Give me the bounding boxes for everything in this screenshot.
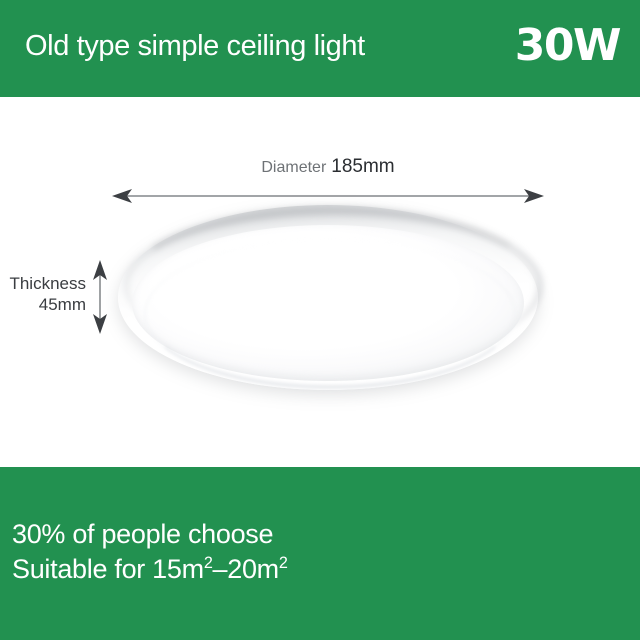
footer-line-2-middle: –20m (213, 554, 279, 584)
double-arrow-vertical-icon (90, 260, 110, 334)
diameter-label: Diameter185mm (112, 157, 544, 176)
header-banner: Old type simple ceiling light 30W (0, 0, 640, 97)
diameter-label-text: Diameter (261, 159, 326, 176)
double-arrow-horizontal-icon (112, 185, 544, 207)
product-photo-area: Diameter185mm Thickness 45mm (0, 97, 640, 467)
ceiling-light-product-image (118, 205, 538, 390)
diameter-value: 185mm (331, 156, 394, 177)
footer-line-2-sup-2: 2 (279, 554, 288, 572)
thickness-label: Thickness 45mm (0, 274, 86, 315)
footer-line-1: 30% of people choose (12, 517, 288, 552)
thickness-label-text: Thickness (0, 274, 86, 295)
lamp-lower-lip-highlight (144, 239, 516, 389)
page-title: Old type simple ceiling light (25, 32, 365, 61)
thickness-value: 45mm (0, 295, 86, 316)
footer-line-2-prefix: Suitable for 15m (12, 554, 204, 584)
diameter-dimension: Diameter185mm (112, 185, 544, 211)
footer-banner: 30% of people choose Suitable for 15m2–2… (0, 467, 640, 640)
footer-line-2-sup-1: 2 (204, 554, 213, 572)
footer-marketing-copy: 30% of people choose Suitable for 15m2–2… (12, 517, 288, 587)
product-infographic: Old type simple ceiling light 30W Diamet… (0, 0, 640, 640)
footer-line-2: Suitable for 15m2–20m2 (12, 552, 288, 587)
wattage-badge: 30W (515, 24, 620, 68)
thickness-dimension: Thickness 45mm (0, 252, 115, 342)
